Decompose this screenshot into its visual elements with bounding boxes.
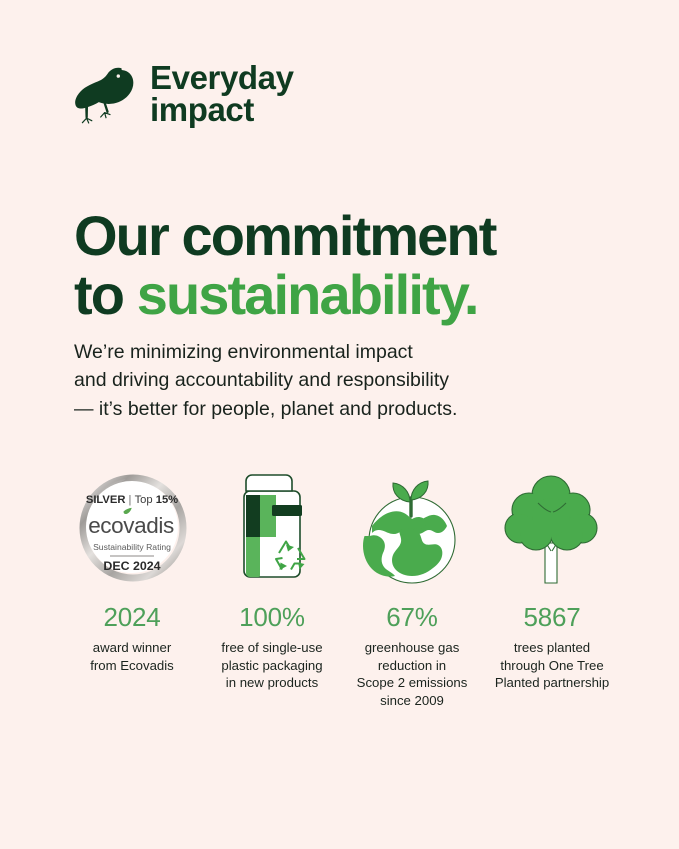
badge-subtitle: Sustainability Rating (93, 542, 171, 552)
stat-caption-line: greenhouse gas (357, 639, 468, 657)
stats-row: SILVER | Top 15% ecovadis Sustainability… (62, 462, 622, 709)
globe-sprout-icon (357, 462, 467, 592)
stat-item-packaging: 100% free of single-use plastic packagin… (202, 462, 342, 692)
bird-icon (74, 62, 136, 126)
stat-value: 2024 (103, 604, 160, 630)
stat-caption-line: since 2009 (357, 692, 468, 710)
headline-accent: sustainability. (137, 263, 478, 326)
intro-paragraph: We’re minimizing environmental impact an… (74, 338, 544, 425)
stat-caption: greenhouse gas reduction in Scope 2 emis… (357, 639, 468, 709)
brand-name-line2: impact (150, 94, 294, 126)
stat-caption-line: Planted partnership (495, 674, 609, 692)
stat-caption-line: from Ecovadis (90, 657, 174, 675)
page-title: Our commitment to sustainability. (74, 206, 634, 325)
stat-caption-line: reduction in (357, 657, 468, 675)
stat-caption-line: free of single-use (221, 639, 322, 657)
stat-item-emissions: 67% greenhouse gas reduction in Scope 2 … (342, 462, 482, 709)
intro-line-1: We’re minimizing environmental impact (74, 338, 544, 367)
sustainability-infographic: Everyday impact Our commitment to sustai… (0, 0, 679, 849)
stat-value: 100% (239, 604, 305, 630)
stat-caption: award winner from Ecovadis (90, 639, 174, 674)
stat-caption-line: Scope 2 emissions (357, 674, 468, 692)
stat-caption-line: plastic packaging (221, 657, 322, 675)
stat-item-trees: 5867 trees planted through One Tree Plan… (482, 462, 622, 692)
stat-caption: trees planted through One Tree Planted p… (495, 639, 609, 692)
intro-line-3: — it’s better for people, planet and pro… (74, 395, 544, 424)
stat-item-ecovadis: SILVER | Top 15% ecovadis Sustainability… (62, 462, 202, 674)
ecovadis-medal-icon: SILVER | Top 15% ecovadis Sustainability… (76, 462, 188, 592)
badge-wordmark: ecovadis (88, 513, 174, 538)
stat-caption-line: in new products (221, 674, 322, 692)
brand-logo: Everyday impact (74, 62, 294, 127)
stat-value: 67% (386, 604, 437, 630)
headline-line2-prefix: to (74, 263, 137, 326)
intro-line-2: and driving accountability and responsib… (74, 366, 544, 395)
recyclable-packaging-icon (224, 462, 320, 592)
stat-caption-line: award winner (90, 639, 174, 657)
stat-caption-line: through One Tree (495, 657, 609, 675)
stat-caption-line: trees planted (495, 639, 609, 657)
stat-caption: free of single-use plastic packaging in … (221, 639, 322, 692)
headline-line1: Our commitment (74, 204, 495, 267)
badge-tier-text: SILVER | Top 15% (86, 494, 178, 506)
stat-value: 5867 (523, 604, 580, 630)
badge-date: DEC 2024 (103, 559, 160, 573)
brand-name: Everyday impact (150, 62, 294, 127)
tree-icon (500, 462, 604, 592)
